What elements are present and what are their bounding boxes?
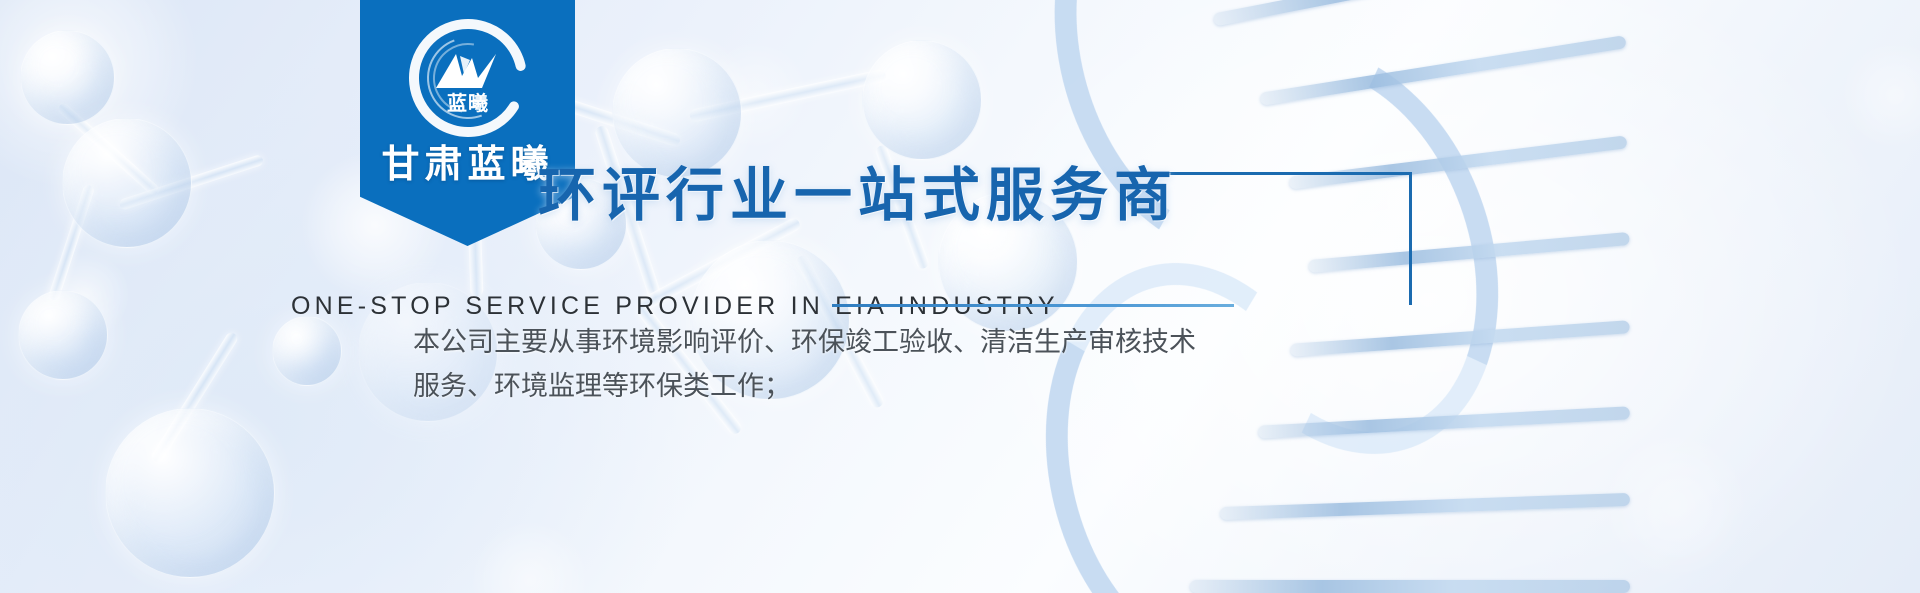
bracket-right-line (1409, 172, 1412, 305)
bokeh-glow (470, 520, 590, 593)
intro-paragraph: 本公司主要从事环境影响评价、环保竣工验收、清洁生产审核技术 服务、环境监理等环保… (413, 320, 1203, 408)
intro-line-1: 本公司主要从事环境影响评价、环保竣工验收、清洁生产审核技术 (413, 320, 1203, 364)
page-title: 环评行业一站式服务商 (538, 148, 1178, 232)
svg-text:蓝曦: 蓝曦 (447, 91, 489, 115)
molecule-node (862, 40, 982, 160)
hero-banner: 蓝曦 甘肃蓝曦 环评行业一站式服务商 ONE-STOP SERVICE PROV… (0, 0, 1920, 593)
molecule-node (18, 290, 108, 380)
molecule-node (272, 316, 342, 386)
molecule-node (62, 118, 192, 248)
bokeh-glow (1840, 40, 1920, 150)
dna-rung (1190, 580, 1630, 593)
subtitle-rule (832, 304, 1234, 307)
lanxi-emblem-icon: 蓝曦 (404, 14, 532, 142)
molecule-node (105, 408, 275, 578)
intro-line-2: 服务、环境监理等环保类工作； (413, 364, 1203, 408)
molecule-node (20, 30, 115, 125)
